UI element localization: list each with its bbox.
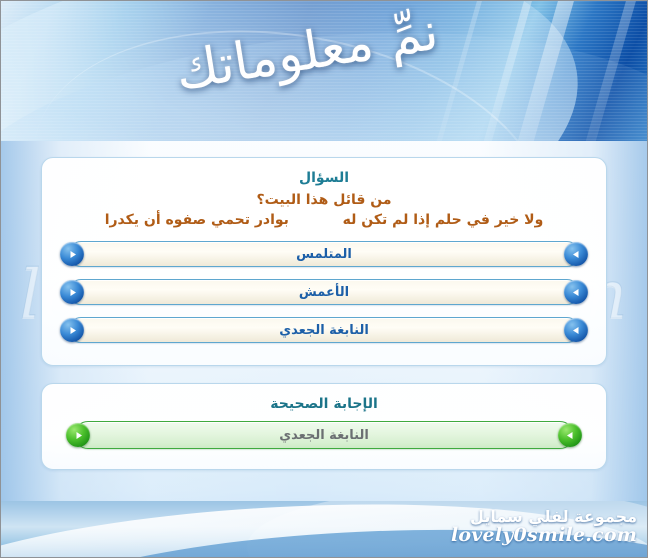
verse-first-hemistich: ولا خير في حلم إذا لم تكن له — [343, 212, 544, 228]
verse-second-hemistich: بوادر تحمي صفوه أن يكدرا — [105, 212, 289, 228]
correct-answer-label: النابغة الجعدي — [279, 428, 369, 443]
play-triangle-left-icon[interactable] — [564, 280, 588, 304]
question-section-title: السؤال — [58, 170, 590, 186]
main-content: السؤال من قائل هذا البيت؟ ولا خير في حلم… — [1, 141, 647, 470]
footer-banner: مجموعة لفلي سمايل lovely0smile.com — [1, 501, 647, 557]
footer-site-url[interactable]: lovely0smile.com — [451, 525, 637, 546]
option-row[interactable]: الأعمش — [68, 279, 580, 305]
play-triangle-left-icon[interactable] — [558, 423, 582, 447]
option-row[interactable]: النابغة الجعدي — [68, 317, 580, 343]
option-label: النابغة الجعدي — [279, 323, 369, 338]
question-verse: ولا خير في حلم إذا لم تكن له بوادر تحمي … — [58, 212, 590, 228]
answer-panel: الإجابة الصحيحة النابغة الجعدي — [41, 383, 607, 470]
correct-answer-row[interactable]: النابغة الجعدي — [74, 421, 574, 449]
footer-arabic-credit: مجموعة لفلي سمايل — [451, 508, 637, 525]
option-row[interactable]: المتلمس — [68, 241, 580, 267]
play-triangle-right-icon[interactable] — [66, 423, 90, 447]
play-triangle-left-icon[interactable] — [564, 242, 588, 266]
footer-credit: مجموعة لفلي سمايل lovely0smile.com — [451, 508, 637, 546]
play-triangle-right-icon[interactable] — [60, 318, 84, 342]
answer-section-title: الإجابة الصحيحة — [58, 396, 590, 412]
option-label: الأعمش — [299, 285, 349, 300]
question-prompt: من قائل هذا البيت؟ — [58, 192, 590, 208]
quiz-page: نمِّ معلوماتك lovely0smile.com السؤال من… — [0, 0, 648, 558]
play-triangle-left-icon[interactable] — [564, 318, 588, 342]
option-label: المتلمس — [296, 247, 352, 262]
header-banner: نمِّ معلوماتك — [1, 1, 647, 141]
question-panel: السؤال من قائل هذا البيت؟ ولا خير في حلم… — [41, 157, 607, 366]
play-triangle-right-icon[interactable] — [60, 242, 84, 266]
play-triangle-right-icon[interactable] — [60, 280, 84, 304]
